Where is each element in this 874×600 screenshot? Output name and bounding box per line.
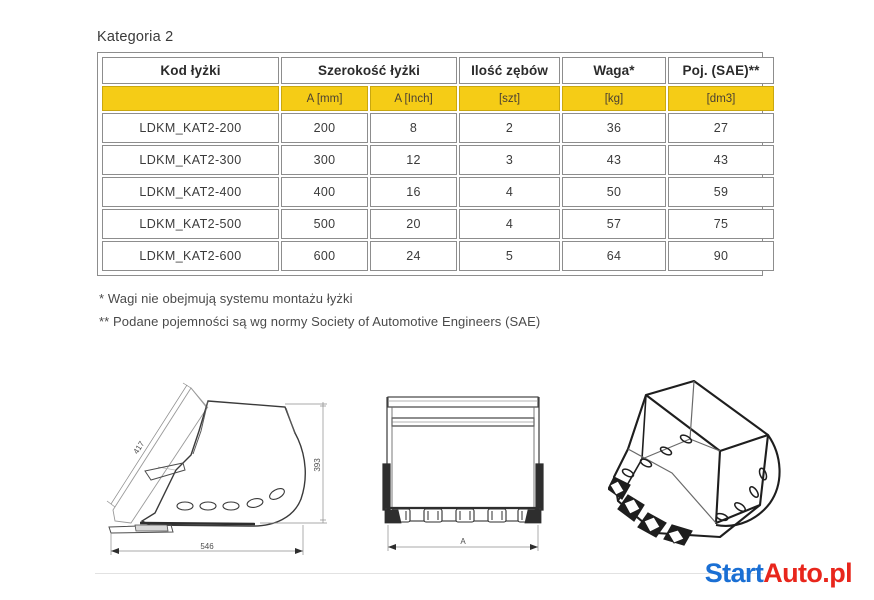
- footnote-capacity: ** Podane pojemności są wg normy Society…: [99, 310, 540, 333]
- table-row: LDKM_KAT2-500 500 20 4 57 75: [102, 209, 774, 239]
- footnotes-block: * Wagi nie obejmują systemu montażu łyżk…: [99, 287, 540, 333]
- table-row: LDKM_KAT2-200 200 8 2 36 27: [102, 113, 774, 143]
- cell-inch: 8: [370, 113, 457, 143]
- cell-kg: 50: [562, 177, 666, 207]
- logo-text-start: Start: [705, 558, 764, 588]
- bucket-isometric-drawing: [608, 373, 838, 568]
- dim-label-diagonal: 417: [131, 439, 146, 456]
- header-kod-lyzki: Kod łyżki: [102, 57, 279, 84]
- header-ilosc-zebow: Ilość zębów: [459, 57, 560, 84]
- cell-code: LDKM_KAT2-400: [102, 177, 279, 207]
- cell-code: LDKM_KAT2-300: [102, 145, 279, 175]
- table-row: LDKM_KAT2-300 300 12 3 43 43: [102, 145, 774, 175]
- logo-text-auto: Auto.pl: [763, 558, 852, 588]
- cell-teeth: 4: [459, 209, 560, 239]
- cell-inch: 16: [370, 177, 457, 207]
- cell-dm3: 59: [668, 177, 774, 207]
- cell-kg: 64: [562, 241, 666, 271]
- unit-cell-inch: A [Inch]: [370, 86, 457, 111]
- cell-inch: 20: [370, 209, 457, 239]
- cell-kg: 57: [562, 209, 666, 239]
- bottom-divider: [95, 573, 763, 574]
- unit-cell-kg: [kg]: [562, 86, 666, 111]
- spec-table-container: Kod łyżki Szerokość łyżki Ilość zębów Wa…: [97, 52, 763, 276]
- cell-mm: 400: [281, 177, 368, 207]
- startauto-logo[interactable]: StartAuto.pl: [705, 558, 852, 589]
- specification-table: Kod łyżki Szerokość łyżki Ilość zębów Wa…: [100, 55, 776, 273]
- cell-teeth: 3: [459, 145, 560, 175]
- cell-teeth: 4: [459, 177, 560, 207]
- footnote-weights: * Wagi nie obejmują systemu montażu łyżk…: [99, 287, 540, 310]
- cell-teeth: 5: [459, 241, 560, 271]
- table-header-row-units: A [mm] A [Inch] [szt] [kg] [dm3]: [102, 86, 774, 111]
- cell-mm: 200: [281, 113, 368, 143]
- dim-label-height: 393: [313, 458, 322, 472]
- table-header-row-groups: Kod łyżki Szerokość łyżki Ilość zębów Wa…: [102, 57, 774, 84]
- cell-dm3: 27: [668, 113, 774, 143]
- dim-label-width-a: A: [460, 537, 466, 546]
- bucket-side-view-drawing: 417 393 546: [95, 375, 355, 570]
- cell-teeth: 2: [459, 113, 560, 143]
- header-szerokosc-lyzki: Szerokość łyżki: [281, 57, 457, 84]
- table-row: LDKM_KAT2-400 400 16 4 50 59: [102, 177, 774, 207]
- header-pojemnosc-sae: Poj. (SAE)**: [668, 57, 774, 84]
- document-page: Kategoria 2 Kod łyżki Szerokość łyżki Il…: [0, 0, 874, 600]
- technical-drawings: 417 393 546: [0, 365, 874, 565]
- cell-code: LDKM_KAT2-200: [102, 113, 279, 143]
- cell-mm: 300: [281, 145, 368, 175]
- unit-cell-szt: [szt]: [459, 86, 560, 111]
- cell-code: LDKM_KAT2-500: [102, 209, 279, 239]
- page-title: Kategoria 2: [97, 29, 173, 45]
- cell-dm3: 90: [668, 241, 774, 271]
- header-waga: Waga*: [562, 57, 666, 84]
- unit-cell-dm3: [dm3]: [668, 86, 774, 111]
- dim-label-length: 546: [200, 542, 214, 551]
- cell-inch: 12: [370, 145, 457, 175]
- cell-code: LDKM_KAT2-600: [102, 241, 279, 271]
- cell-kg: 36: [562, 113, 666, 143]
- cell-inch: 24: [370, 241, 457, 271]
- cell-mm: 600: [281, 241, 368, 271]
- cell-mm: 500: [281, 209, 368, 239]
- cell-dm3: 43: [668, 145, 774, 175]
- unit-cell-mm: A [mm]: [281, 86, 368, 111]
- cell-dm3: 75: [668, 209, 774, 239]
- bucket-front-view-drawing: A: [372, 377, 562, 567]
- cell-kg: 43: [562, 145, 666, 175]
- unit-cell-blank: [102, 86, 279, 111]
- table-row: LDKM_KAT2-600 600 24 5 64 90: [102, 241, 774, 271]
